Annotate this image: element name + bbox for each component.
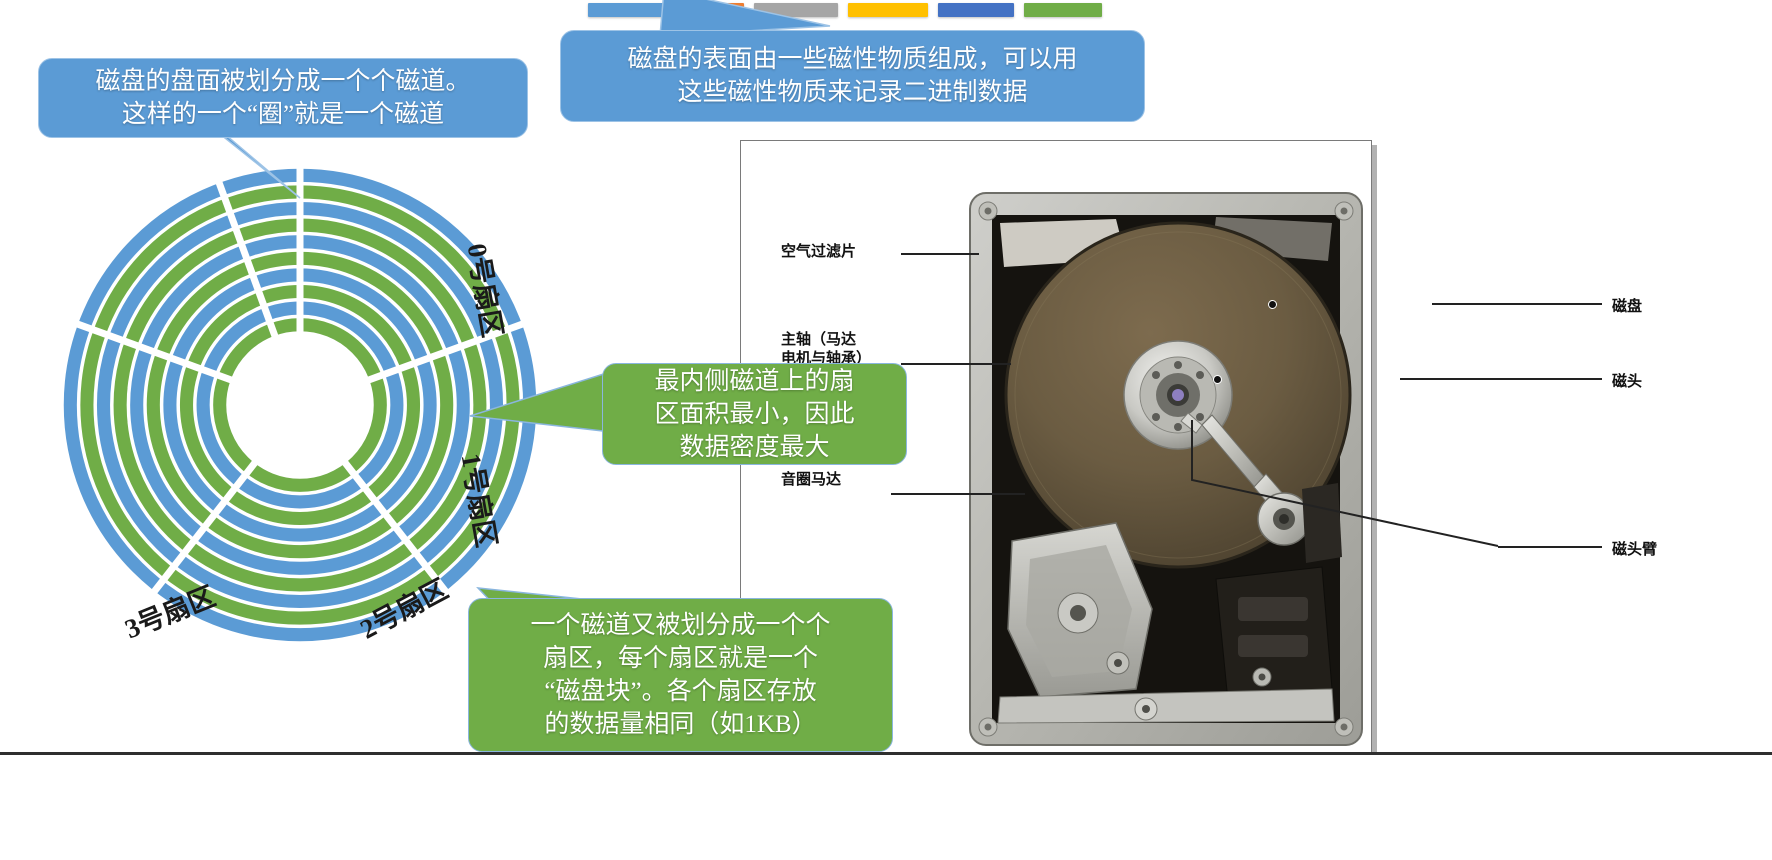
hdd-label-voice-coil: 音圈马达 [781,471,841,490]
callout-sector-line-2: “磁盘块”。各个扇区存放 [544,675,816,708]
leader-line-head [1400,378,1602,380]
callout-sector-line-0: 一个磁道又被划分成一个个 [530,609,830,642]
callout-density-line-1: 区面积最小，因此 [654,398,854,431]
leader-dot-platter [1268,300,1277,309]
leader-line-air-filter [901,253,979,255]
callout-surface: 磁盘的表面由一些磁性物质组成，可以用这些磁性物质来记录二进制数据 [560,30,1145,122]
disk-center-hole [232,337,368,473]
hdd-label-platter: 磁盘 [1612,295,1642,316]
hdd-label-head: 磁头 [1612,370,1642,391]
callout-density-line-2: 数据密度最大 [679,431,829,464]
hdd-label-air-filter-line: 空气过滤片 [781,243,856,262]
slide-bottom-area [0,755,1772,860]
leader-line-platter [1432,303,1602,305]
callout-sector-line-3: 的数据量相同（如1KB） [544,708,816,741]
callout-track-line-0: 磁盘的盘面被划分成一个个磁道。 [95,65,470,98]
callout-track: 磁盘的盘面被划分成一个个磁道。这样的一个“圈”就是一个磁道 [38,58,528,138]
callout-track-line-1: 这样的一个“圈”就是一个磁道 [122,98,444,131]
slide-bottom-rule [0,752,1772,755]
hdd-label-voice-coil-line: 音圈马达 [781,471,841,490]
callout-surface-line-1: 这些磁性物质来记录二进制数据 [677,76,1027,109]
callout-sector-line-1: 扇区，每个扇区就是一个 [543,642,818,675]
callout-density-line-0: 最内侧磁道上的扇 [654,365,854,398]
swatch-green [1024,3,1102,17]
leader-line-head-arm-bend [1180,420,1510,560]
callout-density: 最内侧磁道上的扇区面积最小，因此数据密度最大 [602,363,907,465]
leader-line-head-arm [1498,546,1602,548]
callout-sector: 一个磁道又被划分成一个个扇区，每个扇区就是一个“磁盘块”。各个扇区存放的数据量相… [468,598,893,752]
leader-line-voice-coil [891,493,1025,495]
hdd-label-spindle-line: 主轴（马达 [781,331,871,350]
leader-dot-head [1213,375,1222,384]
leader-line-spindle [901,363,1011,365]
hdd-label-head-arm: 磁头臂 [1612,538,1657,559]
swatch-blue [938,3,1014,17]
hdd-label-air-filter: 空气过滤片 [781,243,856,262]
callout-surface-line-0: 磁盘的表面由一些磁性物质组成，可以用 [627,43,1077,76]
platter-track-sector-diagram [60,160,540,650]
